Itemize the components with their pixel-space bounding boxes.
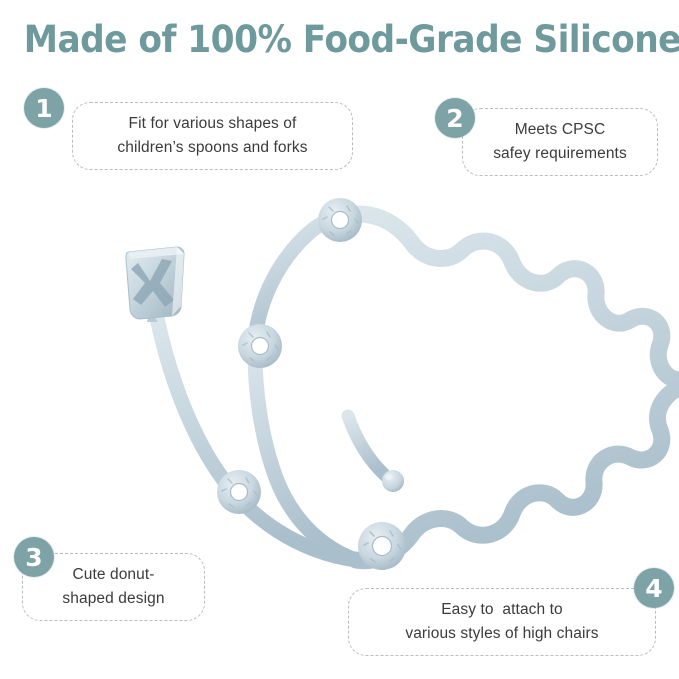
callout-badge-1: 1 — [24, 88, 64, 128]
callout-box-2: Meets CPSC safey requirements — [462, 108, 658, 176]
donut-ring-lower-left — [217, 470, 261, 514]
callout-badge-2: 2 — [435, 98, 475, 138]
callout-badge-4: 4 — [634, 568, 674, 608]
ball-tip-branch — [348, 416, 404, 492]
donut-ring-top — [318, 198, 362, 242]
callout-2-line-1: Meets CPSC — [515, 118, 606, 142]
wavy-strap — [338, 214, 679, 561]
infographic-canvas: Made of 100% Food-Grade Silicone — [0, 0, 679, 679]
ball-tip — [382, 470, 404, 492]
donut-ring-bottom — [358, 522, 406, 570]
callout-badge-3: 3 — [14, 537, 54, 577]
donut-ring-left — [238, 324, 282, 368]
callout-1-line-1: Fit for various shapes of — [129, 112, 297, 136]
callout-2-line-2: safey requirements — [493, 142, 627, 166]
left-cord — [157, 318, 356, 560]
callout-4-line-1: Easy to attach to — [441, 598, 563, 622]
callout-1-line-2: children’s spoons and forks — [117, 136, 307, 160]
callout-box-4: Easy to attach to various styles of high… — [348, 588, 656, 656]
x-slot-opening — [131, 259, 174, 307]
x-slot-clip — [126, 247, 184, 322]
callout-3-line-2: shaped design — [62, 587, 164, 611]
callout-box-1: Fit for various shapes of children’s spo… — [72, 102, 353, 170]
upper-cord — [255, 218, 356, 560]
page-title: Made of 100% Food-Grade Silicone — [24, 18, 655, 61]
callout-4-line-2: various styles of high chairs — [405, 622, 598, 646]
callout-3-line-1: Cute donut- — [72, 563, 154, 587]
